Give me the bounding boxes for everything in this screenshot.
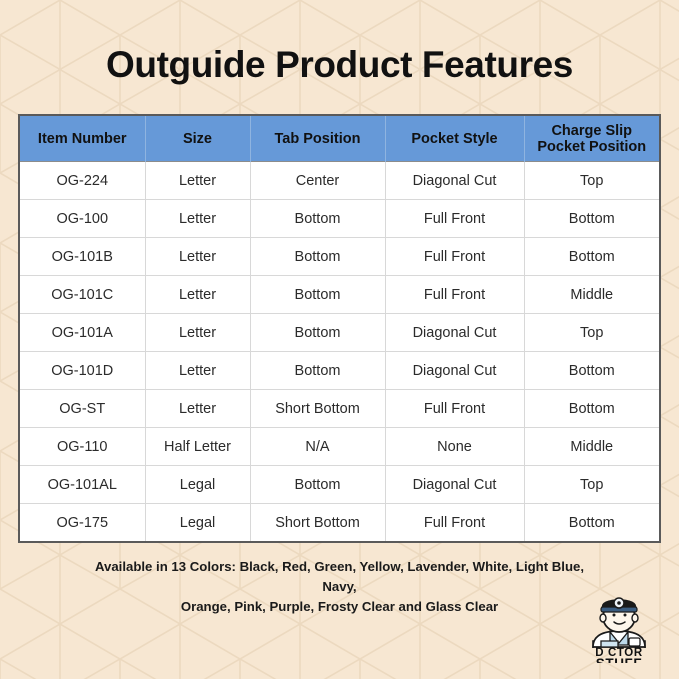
cell-tab-position: Bottom <box>250 314 385 352</box>
cell-charge-slip-pocket-position: Bottom <box>524 390 659 428</box>
cell-item-number: OG-100 <box>20 200 145 238</box>
cell-item-number: OG-101C <box>20 276 145 314</box>
column-header-text-line-1: Charge Slip <box>525 123 660 139</box>
cell-tab-position: Short Bottom <box>250 504 385 542</box>
table-header-row: Item Number Size Tab Position Pocket Sty… <box>20 116 659 162</box>
cell-size: Letter <box>145 238 250 276</box>
cell-item-number: OG-110 <box>20 428 145 466</box>
color-availability-note-line-2: Orange, Pink, Purple, Frosty Clear and G… <box>78 597 601 617</box>
cell-size: Letter <box>145 390 250 428</box>
cell-size: Letter <box>145 200 250 238</box>
table-row: OG-101AL Legal Bottom Diagonal Cut Top <box>20 466 659 504</box>
column-header-item-number: Item Number <box>20 116 145 162</box>
cell-charge-slip-pocket-position: Top <box>524 314 659 352</box>
column-header-pocket-style: Pocket Style <box>385 116 524 162</box>
column-header-text: Item Number <box>20 131 145 147</box>
column-header-text: Tab Position <box>251 131 385 147</box>
cell-tab-position: Short Bottom <box>250 390 385 428</box>
cell-size: Legal <box>145 466 250 504</box>
cell-tab-position: Bottom <box>250 238 385 276</box>
cell-pocket-style: Diagonal Cut <box>385 352 524 390</box>
table-body: OG-224 Letter Center Diagonal Cut Top OG… <box>20 162 659 542</box>
table-row: OG-ST Letter Short Bottom Full Front Bot… <box>20 390 659 428</box>
cell-item-number: OG-101B <box>20 238 145 276</box>
doctor-eye-right-icon <box>624 614 627 617</box>
cell-item-number: OG-101A <box>20 314 145 352</box>
cell-charge-slip-pocket-position: Bottom <box>524 238 659 276</box>
cell-pocket-style: None <box>385 428 524 466</box>
cell-item-number: OG-175 <box>20 504 145 542</box>
cell-pocket-style: Full Front <box>385 504 524 542</box>
cell-charge-slip-pocket-position: Top <box>524 162 659 200</box>
doctor-eye-left-icon <box>613 614 616 617</box>
table-row: OG-101D Letter Bottom Diagonal Cut Botto… <box>20 352 659 390</box>
doctor-stuff-logo: D CTOR STUFF <box>573 591 665 663</box>
color-availability-note: Available in 13 Colors: Black, Red, Gree… <box>78 557 601 617</box>
cell-pocket-style: Diagonal Cut <box>385 314 524 352</box>
features-table: Item Number Size Tab Position Pocket Sty… <box>20 116 659 541</box>
column-header-size: Size <box>145 116 250 162</box>
cell-size: Legal <box>145 504 250 542</box>
doctor-file-icon <box>629 638 640 646</box>
table-row: OG-110 Half Letter N/A None Middle <box>20 428 659 466</box>
cell-size: Half Letter <box>145 428 250 466</box>
cell-pocket-style: Full Front <box>385 276 524 314</box>
doctor-ear-right-icon <box>632 614 638 622</box>
logo-word-stuff: STUFF <box>596 656 643 663</box>
cell-pocket-style: Diagonal Cut <box>385 162 524 200</box>
cell-tab-position: Bottom <box>250 276 385 314</box>
table-row: OG-224 Letter Center Diagonal Cut Top <box>20 162 659 200</box>
cell-size: Letter <box>145 314 250 352</box>
color-availability-note-line-1: Available in 13 Colors: Black, Red, Gree… <box>78 557 601 597</box>
features-table-container: Item Number Size Tab Position Pocket Sty… <box>18 114 661 543</box>
cell-size: Letter <box>145 276 250 314</box>
cell-tab-position: N/A <box>250 428 385 466</box>
page-root: Outguide Product Features Item Number Si… <box>0 0 679 679</box>
table-row: OG-101C Letter Bottom Full Front Middle <box>20 276 659 314</box>
cell-item-number: OG-ST <box>20 390 145 428</box>
cell-size: Letter <box>145 162 250 200</box>
doctor-ear-left-icon <box>600 614 606 622</box>
cell-charge-slip-pocket-position: Middle <box>524 428 659 466</box>
cell-charge-slip-pocket-position: Bottom <box>524 200 659 238</box>
column-header-charge-slip-pocket-position: Charge Slip Pocket Position <box>524 116 659 162</box>
table-row: OG-100 Letter Bottom Full Front Bottom <box>20 200 659 238</box>
column-header-text-line-2: Pocket Position <box>525 139 660 155</box>
cell-charge-slip-pocket-position: Middle <box>524 276 659 314</box>
cell-tab-position: Bottom <box>250 352 385 390</box>
cell-size: Letter <box>145 352 250 390</box>
cell-pocket-style: Full Front <box>385 390 524 428</box>
cell-item-number: OG-101AL <box>20 466 145 504</box>
table-row: OG-175 Legal Short Bottom Full Front Bot… <box>20 504 659 542</box>
cell-tab-position: Bottom <box>250 466 385 504</box>
column-header-text: Pocket Style <box>386 131 524 147</box>
cell-tab-position: Center <box>250 162 385 200</box>
cell-item-number: OG-224 <box>20 162 145 200</box>
cell-pocket-style: Full Front <box>385 238 524 276</box>
cell-charge-slip-pocket-position: Top <box>524 466 659 504</box>
head-mirror-center-icon <box>617 601 621 605</box>
cell-pocket-style: Full Front <box>385 200 524 238</box>
cell-charge-slip-pocket-position: Bottom <box>524 352 659 390</box>
column-header-text: Size <box>146 131 250 147</box>
cell-item-number: OG-101D <box>20 352 145 390</box>
table-row: OG-101A Letter Bottom Diagonal Cut Top <box>20 314 659 352</box>
table-header: Item Number Size Tab Position Pocket Sty… <box>20 116 659 162</box>
cell-charge-slip-pocket-position: Bottom <box>524 504 659 542</box>
page-title: Outguide Product Features <box>0 42 679 88</box>
cell-tab-position: Bottom <box>250 200 385 238</box>
column-header-tab-position: Tab Position <box>250 116 385 162</box>
cell-pocket-style: Diagonal Cut <box>385 466 524 504</box>
table-row: OG-101B Letter Bottom Full Front Bottom <box>20 238 659 276</box>
